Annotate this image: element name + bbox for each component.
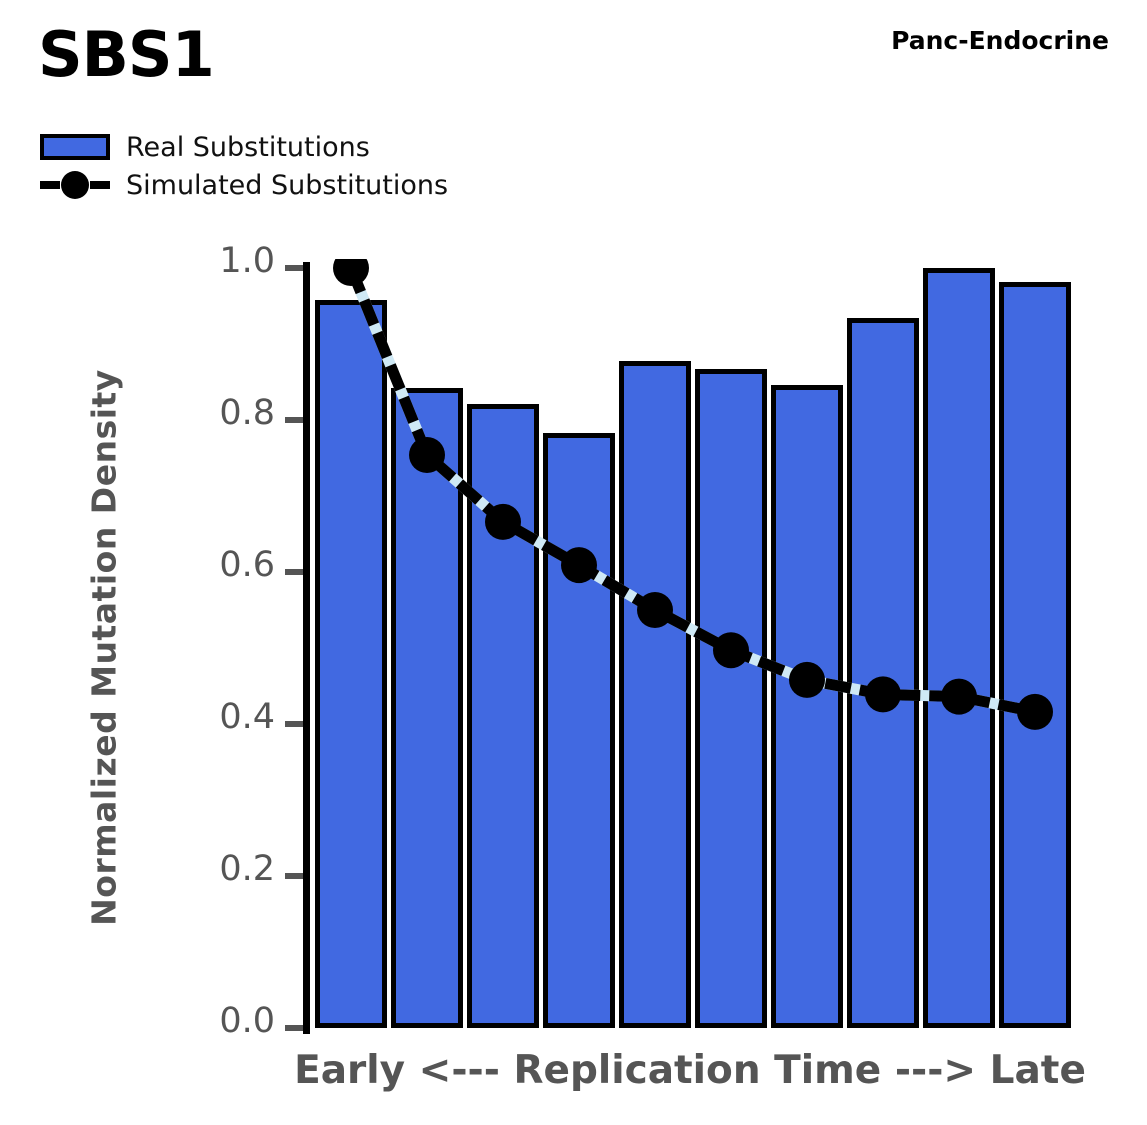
chart-plot-area: Normalized Mutation Density 0.00.20.40.6… bbox=[0, 0, 1147, 1125]
line-marker bbox=[333, 250, 369, 286]
simulated-line bbox=[351, 268, 1035, 712]
line-marker bbox=[865, 676, 901, 712]
line-marker bbox=[485, 504, 521, 540]
line-underlay bbox=[351, 268, 1035, 712]
line-marker bbox=[713, 632, 749, 668]
line-marker bbox=[941, 679, 977, 715]
line-marker bbox=[1017, 694, 1053, 730]
x-axis-title: Early <--- Replication Time ---> Late bbox=[250, 1048, 1130, 1093]
line-marker bbox=[409, 437, 445, 473]
line-marker bbox=[789, 662, 825, 698]
line-marker bbox=[561, 547, 597, 583]
line-marker bbox=[637, 592, 673, 628]
